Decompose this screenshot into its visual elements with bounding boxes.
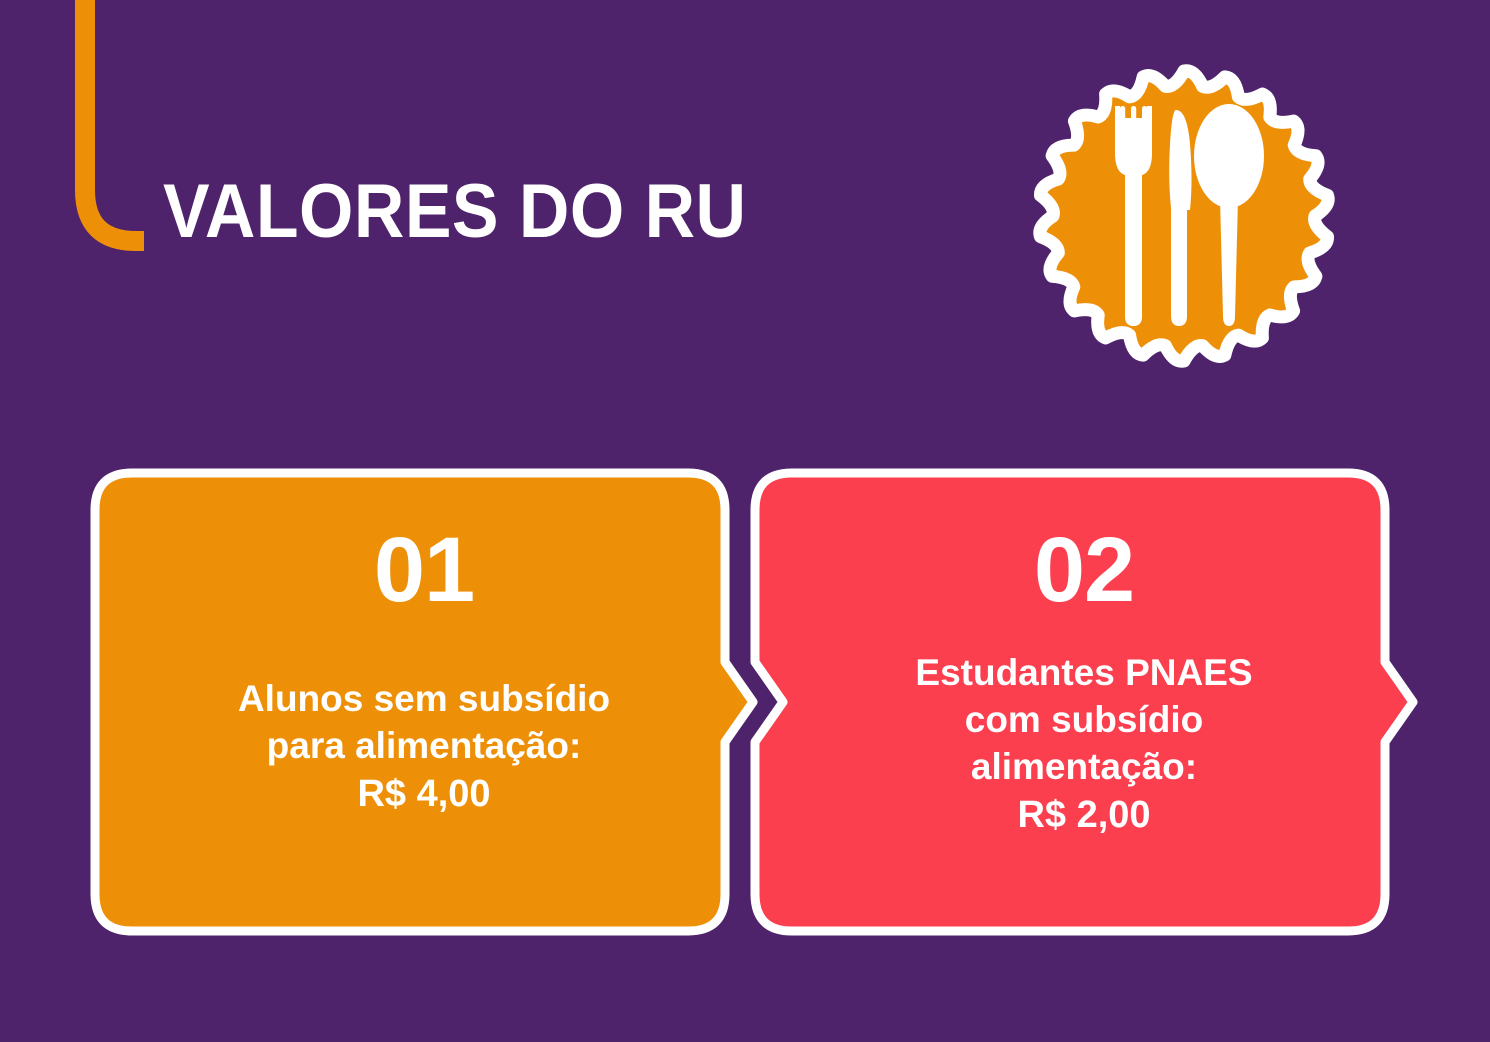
page-title: VALORES DO RU [163, 174, 747, 250]
card-02[interactable]: 02 Estudantes PNAES com subsídio aliment… [748, 466, 1420, 938]
infographic-canvas: VALORES DO RU [0, 0, 1490, 1042]
orange-l-bracket-decoration [74, 0, 144, 252]
cutlery-badge [1024, 58, 1344, 388]
card-01[interactable]: 01 Alunos sem subsídio para alimentação:… [88, 466, 760, 938]
